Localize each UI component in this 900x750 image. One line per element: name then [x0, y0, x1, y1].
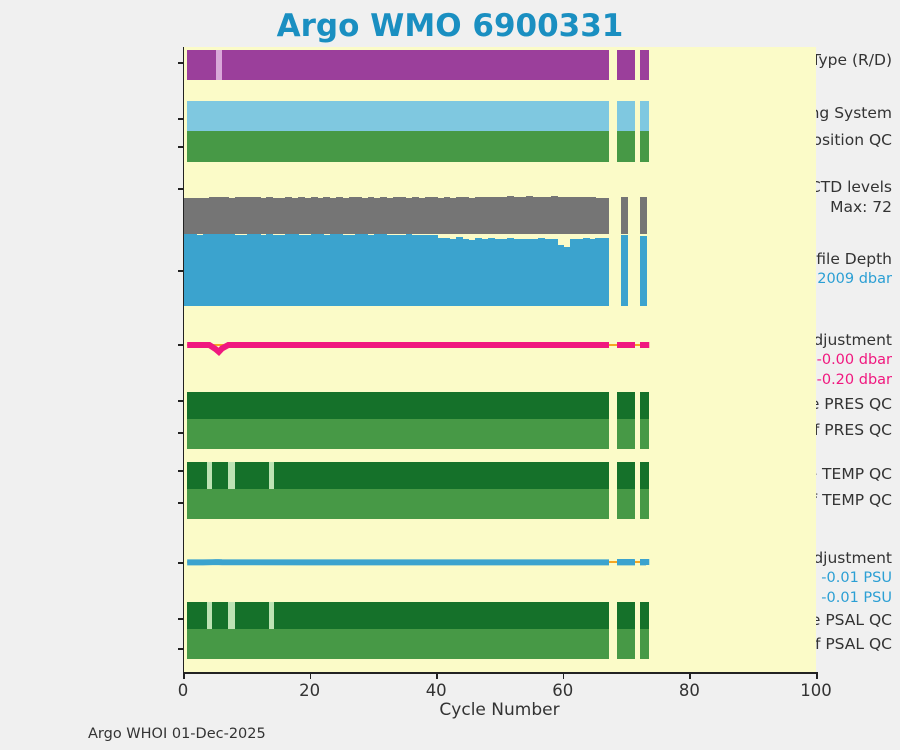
x-tick-label: 40	[426, 681, 447, 700]
series-segment	[187, 462, 207, 489]
x-axis-tick	[183, 672, 185, 679]
bar	[621, 197, 628, 234]
x-axis-tick	[816, 672, 818, 679]
series-segment	[235, 602, 269, 629]
series-segment	[187, 602, 207, 629]
series-segment	[187, 50, 216, 80]
series-segment	[235, 462, 269, 489]
series-segment	[187, 131, 610, 162]
zero-reference-line	[635, 561, 640, 563]
series-segment	[617, 419, 635, 449]
x-tick-label: 0	[178, 681, 189, 700]
series-segment	[187, 629, 610, 659]
series-segment	[187, 419, 610, 449]
x-tick-label: 80	[679, 681, 700, 700]
series-segment	[212, 462, 228, 489]
series-segment	[617, 131, 635, 162]
series-segment	[187, 489, 610, 519]
bar	[602, 198, 609, 234]
bar	[640, 197, 647, 234]
chart-plot-area	[183, 47, 816, 672]
x-axis-tick	[563, 672, 565, 679]
x-axis-tick	[310, 672, 312, 679]
series-segment	[617, 462, 635, 489]
series-row-profile-psal-qc	[184, 602, 816, 629]
page-title: Argo WMO 6900331	[0, 8, 900, 44]
series-segment	[222, 50, 609, 80]
adjustment-line	[184, 330, 816, 360]
zero-reference-line	[635, 344, 640, 346]
series-row-psal-adjustment	[184, 548, 816, 576]
series-segment	[640, 489, 649, 519]
series-segment	[617, 392, 635, 419]
x-axis-label: Cycle Number	[183, 700, 816, 720]
x-tick-label: 20	[299, 681, 320, 700]
zero-reference-line	[609, 561, 617, 563]
series-segment	[640, 131, 649, 162]
series-segment	[640, 602, 649, 629]
series-row-number-ctd-levels	[184, 196, 816, 234]
series-segment	[617, 629, 635, 659]
series-segment	[640, 101, 649, 131]
series-row-pres-adjustment	[184, 330, 816, 360]
series-row-date-type-r-d-	[184, 50, 816, 80]
series-row-profile-pres-qc	[184, 392, 816, 419]
series-segment	[187, 392, 610, 419]
series-segment	[640, 50, 649, 80]
x-tick-label: 100	[800, 681, 832, 700]
series-segment	[274, 462, 609, 489]
bar	[621, 235, 628, 306]
series-segment	[212, 602, 228, 629]
zero-reference-line	[609, 344, 617, 346]
series-row-profile-depth	[184, 234, 816, 306]
series-row-mode-of-temp-qc	[184, 489, 816, 519]
series-segment	[640, 629, 649, 659]
y-axis-tick	[178, 188, 184, 190]
series-segment	[617, 50, 635, 80]
series-segment	[640, 419, 649, 449]
x-axis	[183, 672, 816, 674]
series-segment	[617, 602, 635, 629]
series-segment	[617, 101, 635, 131]
x-axis-tick	[689, 672, 691, 679]
series-segment	[617, 489, 635, 519]
series-row-positioning-system	[184, 101, 816, 131]
bar-group	[184, 234, 816, 306]
series-row-position-qc	[184, 131, 816, 162]
bar	[602, 238, 609, 306]
bar-group	[184, 196, 816, 234]
series-row-mode-of-pres-qc	[184, 419, 816, 449]
credit-text: Argo WHOI 01-Dec-2025	[88, 726, 266, 742]
series-row-profile-temp-qc	[184, 462, 816, 489]
x-tick-label: 60	[552, 681, 573, 700]
x-axis-tick	[436, 672, 438, 679]
series-segment	[274, 602, 609, 629]
bar	[640, 236, 647, 306]
series-segment	[640, 392, 649, 419]
series-row-mode-of-psal-qc	[184, 629, 816, 659]
series-segment	[187, 101, 610, 131]
series-segment	[640, 462, 649, 489]
adjustment-line	[184, 548, 816, 576]
